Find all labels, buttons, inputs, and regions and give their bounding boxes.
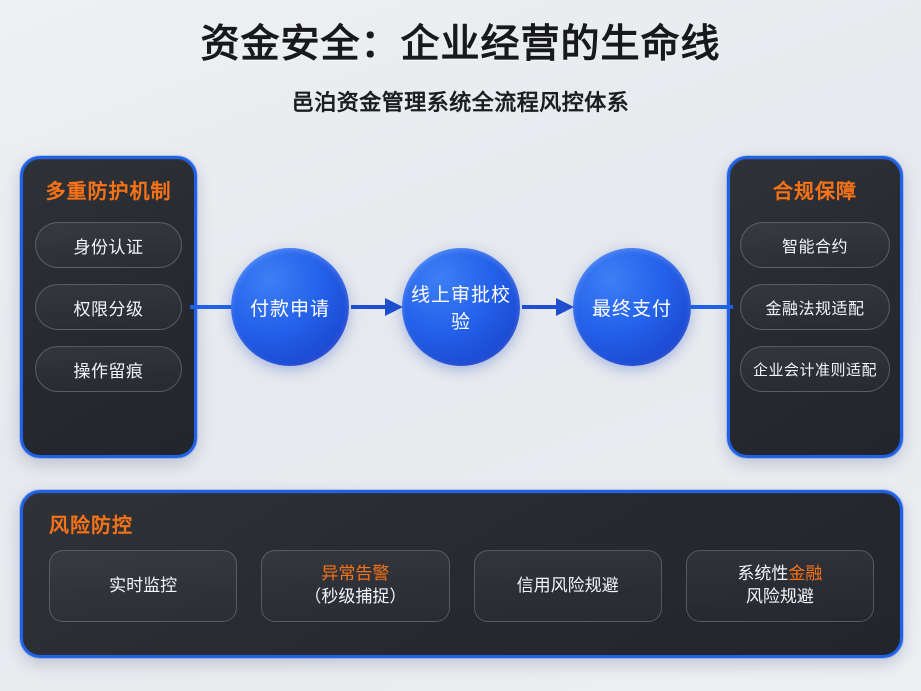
slide-header: 资金安全：企业经营的生命线 邑泊资金管理系统全流程风控体系 [0, 22, 921, 117]
connector-left-panel-to-flow [190, 305, 235, 309]
bottom-card-line1: 信用风险规避 [517, 576, 619, 595]
bottom-card-line2: （秒级捕捉） [304, 587, 406, 606]
right-panel-item-label: 金融法规适配 [765, 295, 864, 319]
bottom-card-credit-risk-avoidance[interactable]: 信用风险规避 [474, 550, 662, 622]
left-panel-item-operation-trace[interactable]: 操作留痕 [35, 346, 182, 392]
panel-risk-prevention: 风险防控 实时监控 异常告警 （秒级捕捉） 信用风险规避 [20, 490, 903, 658]
right-panel-item-smart-contract[interactable]: 智能合约 [740, 222, 890, 268]
bottom-card-text: 实时监控 [109, 575, 177, 598]
panel-compliance-assurance: 合规保障 智能合约 金融法规适配 企业会计准则适配 [727, 156, 903, 458]
left-panel-item-identity-auth[interactable]: 身份认证 [35, 222, 182, 268]
right-panel-item-accounting-standard[interactable]: 企业会计准则适配 [740, 346, 890, 392]
bottom-card-line1: 异常告警 [321, 564, 389, 583]
arrow-head [385, 298, 403, 316]
bottom-card-line2: 风险规避 [746, 587, 814, 606]
arrow-head [556, 298, 574, 316]
bottom-card-text: 系统性金融 风险规避 [737, 563, 822, 609]
slide-canvas: 资金安全：企业经营的生命线 邑泊资金管理系统全流程风控体系 多重防护机制 身份认… [0, 0, 921, 691]
flow-step-payment-request[interactable]: 付款申请 [231, 248, 349, 366]
flow-step-label: 线上审批校验 [402, 280, 520, 334]
arrow-right-icon [522, 297, 576, 317]
left-panel-item-permission-tier[interactable]: 权限分级 [35, 284, 182, 330]
arrow-shaft [351, 305, 387, 309]
bottom-card-line1: 系统性 [737, 564, 788, 583]
right-panel-item-label: 企业会计准则适配 [753, 359, 877, 380]
flow-step-final-payment[interactable]: 最终支付 [573, 248, 691, 366]
left-panel-title: 多重防护机制 [35, 175, 182, 204]
flow-step-online-approval[interactable]: 线上审批校验 [402, 248, 520, 366]
arrow-shaft [522, 305, 558, 309]
bottom-panel-title: 风险防控 [49, 509, 882, 538]
bottom-card-line1-highlight: 金融 [788, 564, 822, 583]
left-panel-item-label: 身份认证 [74, 233, 144, 258]
connector-flow-to-right-panel [688, 305, 733, 309]
flow-step-label: 付款申请 [250, 294, 330, 321]
right-panel-item-financial-regulation[interactable]: 金融法规适配 [740, 284, 890, 330]
bottom-card-systemic-financial-risk[interactable]: 系统性金融 风险规避 [686, 550, 874, 622]
page-title: 资金安全：企业经营的生命线 [0, 22, 921, 69]
bottom-card-list: 实时监控 异常告警 （秒级捕捉） 信用风险规避 系统性金融 风险规避 [41, 550, 882, 622]
bottom-card-anomaly-alert[interactable]: 异常告警 （秒级捕捉） [261, 550, 449, 622]
page-subtitle: 邑泊资金管理系统全流程风控体系 [0, 85, 921, 117]
left-panel-item-label: 操作留痕 [74, 357, 144, 382]
arrow-right-icon [351, 297, 405, 317]
bottom-card-text: 异常告警 （秒级捕捉） [304, 563, 406, 609]
bottom-card-realtime-monitoring[interactable]: 实时监控 [49, 550, 237, 622]
left-panel-item-label: 权限分级 [74, 295, 144, 320]
bottom-card-line1: 实时监控 [109, 576, 177, 595]
bottom-card-text: 信用风险规避 [517, 575, 619, 598]
flow-step-label: 最终支付 [592, 294, 672, 321]
panel-multi-layer-protection: 多重防护机制 身份认证 权限分级 操作留痕 [20, 156, 197, 458]
right-panel-title: 合规保障 [740, 175, 890, 204]
right-panel-item-label: 智能合约 [782, 233, 848, 257]
